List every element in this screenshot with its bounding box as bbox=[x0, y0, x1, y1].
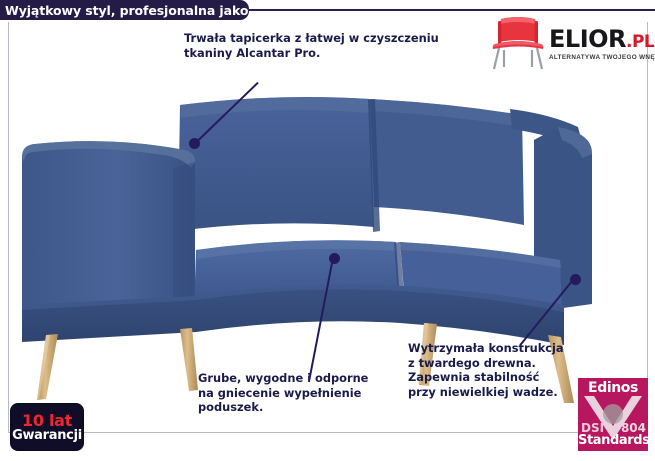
callout-cushion-dot bbox=[329, 253, 340, 264]
headline-rule bbox=[249, 9, 655, 11]
brand-logo-text: ELIOR.PL ALTERNATYWA TWOJEGO WNĘTRZA bbox=[549, 28, 650, 61]
brand-tagline: ALTERNATYWA TWOJEGO WNĘTRZA bbox=[549, 54, 652, 61]
brand-logo: ELIOR.PL ALTERNATYWA TWOJEGO WNĘTRZA bbox=[487, 14, 650, 72]
edinos-subtitle: Standards bbox=[578, 433, 648, 448]
callout-fabric-dot bbox=[189, 138, 200, 149]
brand-name: ELIOR.PL bbox=[549, 28, 650, 53]
callout-cushion-text: Grube, wygodne i odporne na gniecenie wy… bbox=[198, 371, 398, 415]
brand-name-domain: .PL bbox=[626, 32, 654, 52]
red-chair-icon bbox=[487, 14, 549, 72]
frame-border-left bbox=[8, 22, 9, 432]
warranty-years: 10 lat bbox=[22, 412, 72, 429]
warranty-label: Gwarancji bbox=[12, 429, 82, 443]
product-infographic: Wyjątkowy styl, profesjonalna jakość! EL… bbox=[0, 0, 655, 461]
callout-frame-text: Wytrzymała konstrukcja z twardego drewna… bbox=[408, 341, 588, 399]
callout-frame-dot bbox=[570, 274, 581, 285]
brand-name-main: ELIOR bbox=[549, 25, 626, 53]
edinos-certification-badge: Edinos DSI 804 Standards bbox=[578, 378, 648, 451]
headline-text: Wyjątkowy styl, profesjonalna jakość! bbox=[0, 3, 269, 18]
frame-border-bottom bbox=[8, 432, 648, 433]
edinos-title: Edinos bbox=[578, 380, 648, 396]
headline-banner: Wyjątkowy styl, profesjonalna jakość! bbox=[0, 0, 249, 20]
frame-border-right bbox=[647, 22, 648, 432]
warranty-badge: 10 lat Gwarancji bbox=[11, 404, 83, 450]
callout-fabric-text: Trwała tapicerka z łatwej w czyszczeniu … bbox=[184, 31, 474, 60]
